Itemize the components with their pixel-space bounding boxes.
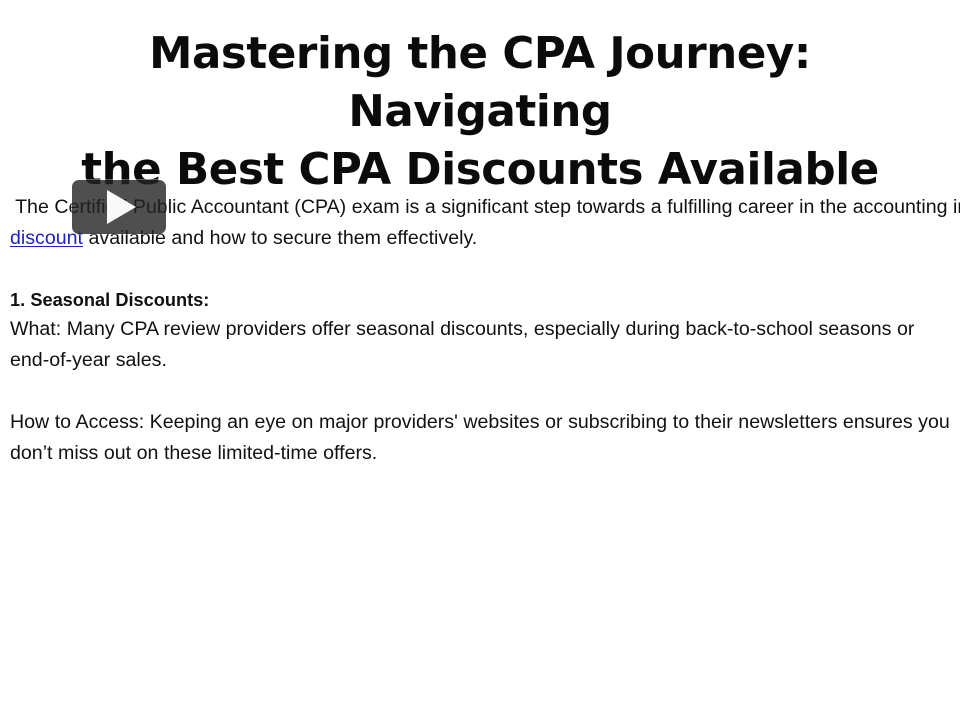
section-1: 1. Seasonal Discounts:What: Many CPA rev…	[10, 286, 950, 376]
play-button[interactable]	[72, 180, 166, 234]
play-icon	[107, 190, 136, 224]
slide-canvas: Mastering the CPA Journey: Navigating th…	[0, 0, 960, 720]
section-1-access: How to Access: Keeping an eye on major p…	[10, 407, 950, 469]
section-1-what-text: What: Many CPA review providers offer se…	[10, 318, 914, 371]
section-1-heading: 1. Seasonal Discounts:	[10, 286, 950, 314]
section-1-access-text: How to Access: Keeping an eye on major p…	[10, 411, 950, 464]
paragraph-spacer-2	[10, 376, 950, 407]
page-title: Mastering the CPA Journey: Navigating th…	[28, 26, 932, 200]
paragraph-spacer-1	[10, 254, 950, 285]
page-title-text: Mastering the CPA Journey: Navigating th…	[28, 26, 932, 200]
